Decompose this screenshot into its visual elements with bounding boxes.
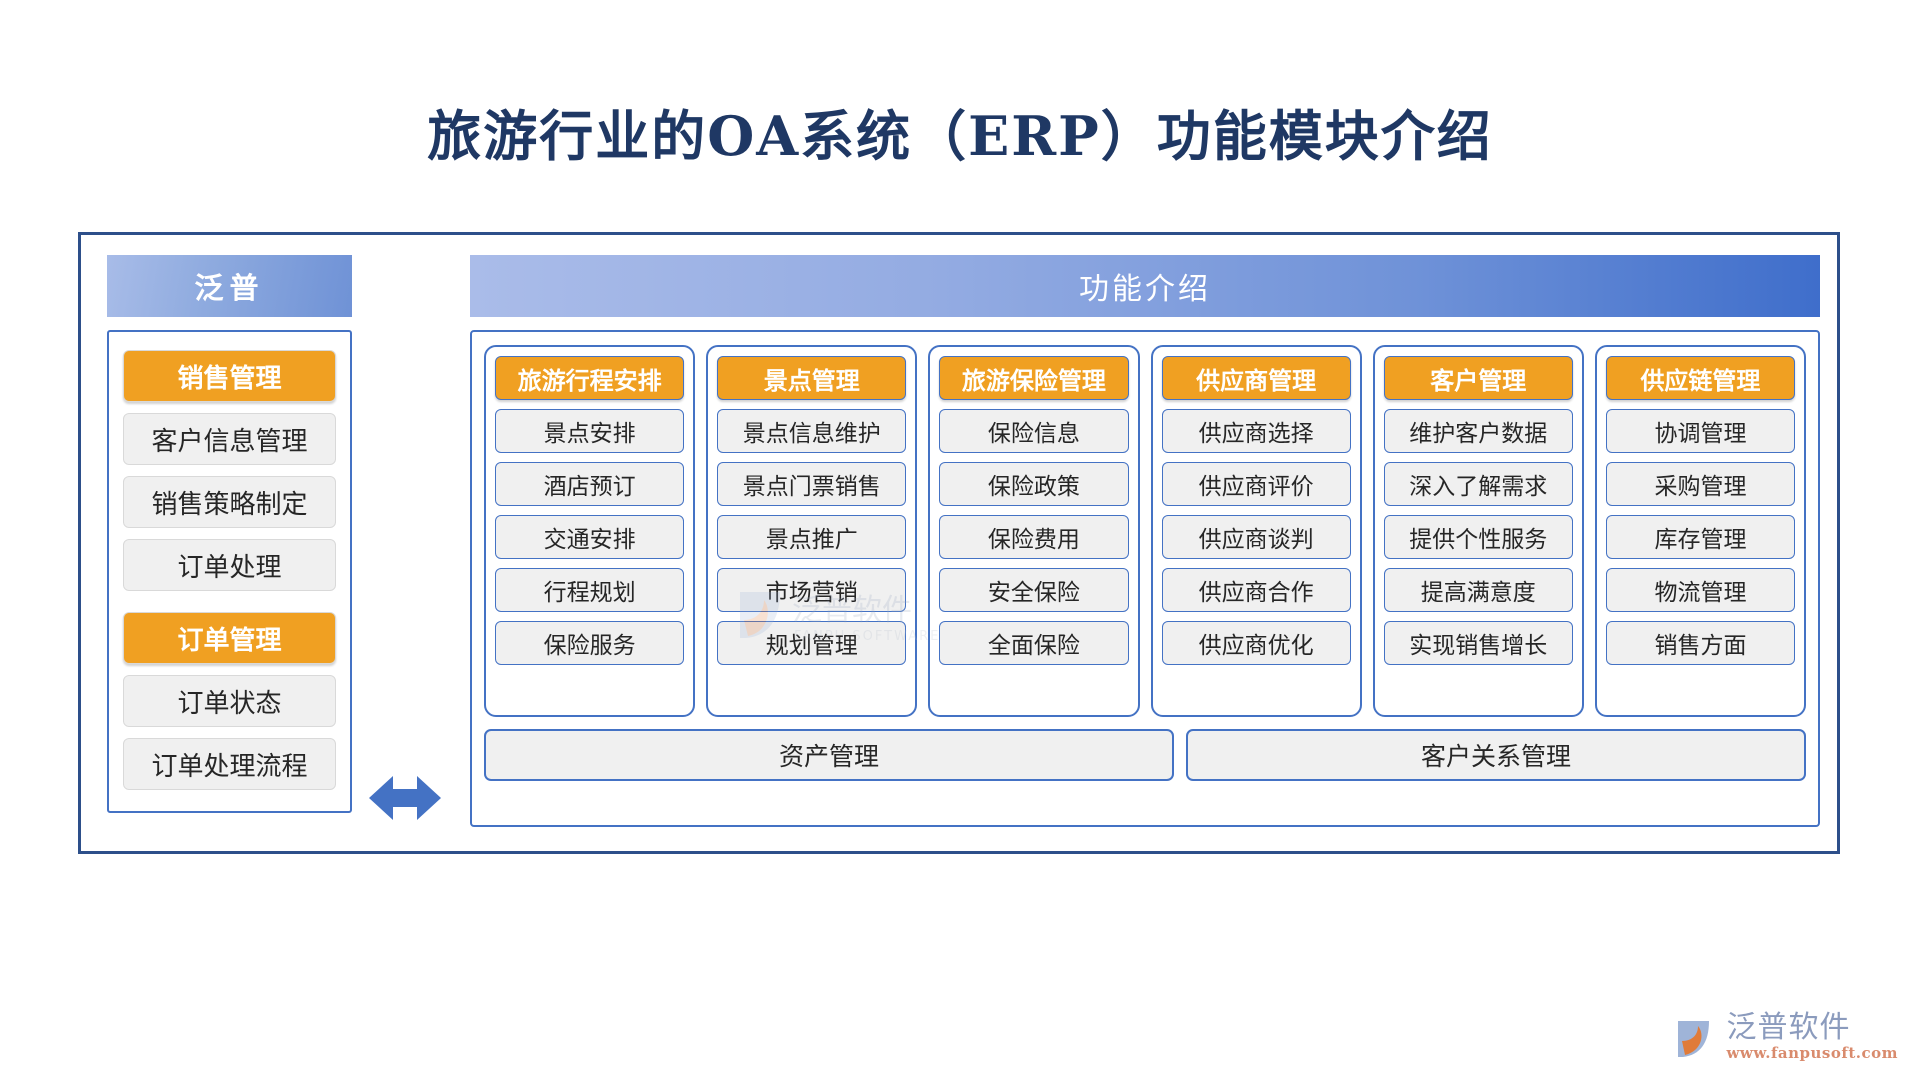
module-item[interactable]: 销售方面 [1606, 621, 1795, 665]
module-head-insurance[interactable]: 旅游保险管理 [939, 356, 1128, 400]
module-item[interactable]: 市场营销 [717, 568, 906, 612]
module-item[interactable]: 供应商选择 [1162, 409, 1351, 453]
double-arrow-icon [369, 771, 441, 825]
module-item[interactable]: 供应商谈判 [1162, 515, 1351, 559]
module-head-attractions[interactable]: 景点管理 [717, 356, 906, 400]
fanpu-logo-icon [1675, 1015, 1721, 1059]
bottom-bars: 资产管理 客户关系管理 [484, 729, 1806, 781]
sidebar-item-order-flow[interactable]: 订单处理流程 [123, 738, 336, 790]
module-item[interactable]: 规划管理 [717, 621, 906, 665]
module-column-attractions: 景点管理 景点信息维护 景点门票销售 景点推广 市场营销 规划管理 [706, 345, 917, 717]
module-item[interactable]: 提供个性服务 [1384, 515, 1573, 559]
bottom-bar-asset-management[interactable]: 资产管理 [484, 729, 1174, 781]
module-column-supply-chain: 供应链管理 协调管理 采购管理 库存管理 物流管理 销售方面 [1595, 345, 1806, 717]
sidebar-item-customer-info[interactable]: 客户信息管理 [123, 413, 336, 465]
module-column-customer: 客户管理 维护客户数据 深入了解需求 提供个性服务 提高满意度 实现销售增长 [1373, 345, 1584, 717]
module-item[interactable]: 交通安排 [495, 515, 684, 559]
module-item[interactable]: 景点安排 [495, 409, 684, 453]
module-head-supply-chain[interactable]: 供应链管理 [1606, 356, 1795, 400]
module-item[interactable]: 库存管理 [1606, 515, 1795, 559]
logo-texts: 泛普软件 www.fanpusoft.com [1727, 1013, 1899, 1061]
module-item[interactable]: 安全保险 [939, 568, 1128, 612]
module-item[interactable]: 供应商合作 [1162, 568, 1351, 612]
module-column-insurance: 旅游保险管理 保险信息 保险政策 保险费用 安全保险 全面保险 [928, 345, 1139, 717]
module-head-customer[interactable]: 客户管理 [1384, 356, 1573, 400]
module-item[interactable]: 景点门票销售 [717, 462, 906, 506]
module-item[interactable]: 全面保险 [939, 621, 1128, 665]
sidebar-divider [123, 602, 336, 612]
logo-url: www.fanpusoft.com [1727, 1046, 1899, 1061]
diagram-board: 泛普 销售管理 客户信息管理 销售策略制定 订单处理 订单管理 订单状态 订单处… [78, 232, 1840, 854]
module-item[interactable]: 保险费用 [939, 515, 1128, 559]
module-item[interactable]: 供应商优化 [1162, 621, 1351, 665]
module-item[interactable]: 行程规划 [495, 568, 684, 612]
module-item[interactable]: 酒店预订 [495, 462, 684, 506]
sidebar: 泛普 销售管理 客户信息管理 销售策略制定 订单处理 订单管理 订单状态 订单处… [102, 255, 357, 835]
sidebar-item-sales-strategy[interactable]: 销售策略制定 [123, 476, 336, 528]
module-item[interactable]: 保险服务 [495, 621, 684, 665]
module-item[interactable]: 保险政策 [939, 462, 1128, 506]
sidebar-body: 销售管理 客户信息管理 销售策略制定 订单处理 订单管理 订单状态 订单处理流程 [107, 330, 352, 813]
corner-logo: 泛普软件 www.fanpusoft.com [1675, 1008, 1899, 1066]
main-body: 旅游行程安排 景点安排 酒店预订 交通安排 行程规划 保险服务 景点管理 景点信… [470, 330, 1820, 827]
module-item[interactable]: 景点信息维护 [717, 409, 906, 453]
module-item[interactable]: 协调管理 [1606, 409, 1795, 453]
module-item[interactable]: 维护客户数据 [1384, 409, 1573, 453]
module-item[interactable]: 深入了解需求 [1384, 462, 1573, 506]
sidebar-group-head-orders[interactable]: 订单管理 [123, 612, 336, 664]
sidebar-group-head-sales[interactable]: 销售管理 [123, 350, 336, 402]
module-item[interactable]: 物流管理 [1606, 568, 1795, 612]
main-header: 功能介绍 [470, 255, 1820, 317]
module-item[interactable]: 实现销售增长 [1384, 621, 1573, 665]
brand-header: 泛普 [107, 255, 352, 317]
module-item[interactable]: 保险信息 [939, 409, 1128, 453]
module-item[interactable]: 供应商评价 [1162, 462, 1351, 506]
sidebar-item-order-status[interactable]: 订单状态 [123, 675, 336, 727]
main-panel: 功能介绍 旅游行程安排 景点安排 酒店预订 交通安排 行程规划 保险服务 景点管… [470, 255, 1820, 835]
module-column-supplier: 供应商管理 供应商选择 供应商评价 供应商谈判 供应商合作 供应商优化 [1151, 345, 1362, 717]
sidebar-item-order-processing[interactable]: 订单处理 [123, 539, 336, 591]
module-columns: 旅游行程安排 景点安排 酒店预订 交通安排 行程规划 保险服务 景点管理 景点信… [484, 345, 1806, 717]
module-head-itinerary[interactable]: 旅游行程安排 [495, 356, 684, 400]
module-item[interactable]: 采购管理 [1606, 462, 1795, 506]
module-column-itinerary: 旅游行程安排 景点安排 酒店预订 交通安排 行程规划 保险服务 [484, 345, 695, 717]
bottom-bar-crm[interactable]: 客户关系管理 [1186, 729, 1806, 781]
module-head-supplier[interactable]: 供应商管理 [1162, 356, 1351, 400]
module-item[interactable]: 景点推广 [717, 515, 906, 559]
logo-name: 泛普软件 [1727, 1013, 1899, 1043]
page-title: 旅游行业的OA系统（ERP）功能模块介绍 [0, 92, 1920, 171]
module-item[interactable]: 提高满意度 [1384, 568, 1573, 612]
